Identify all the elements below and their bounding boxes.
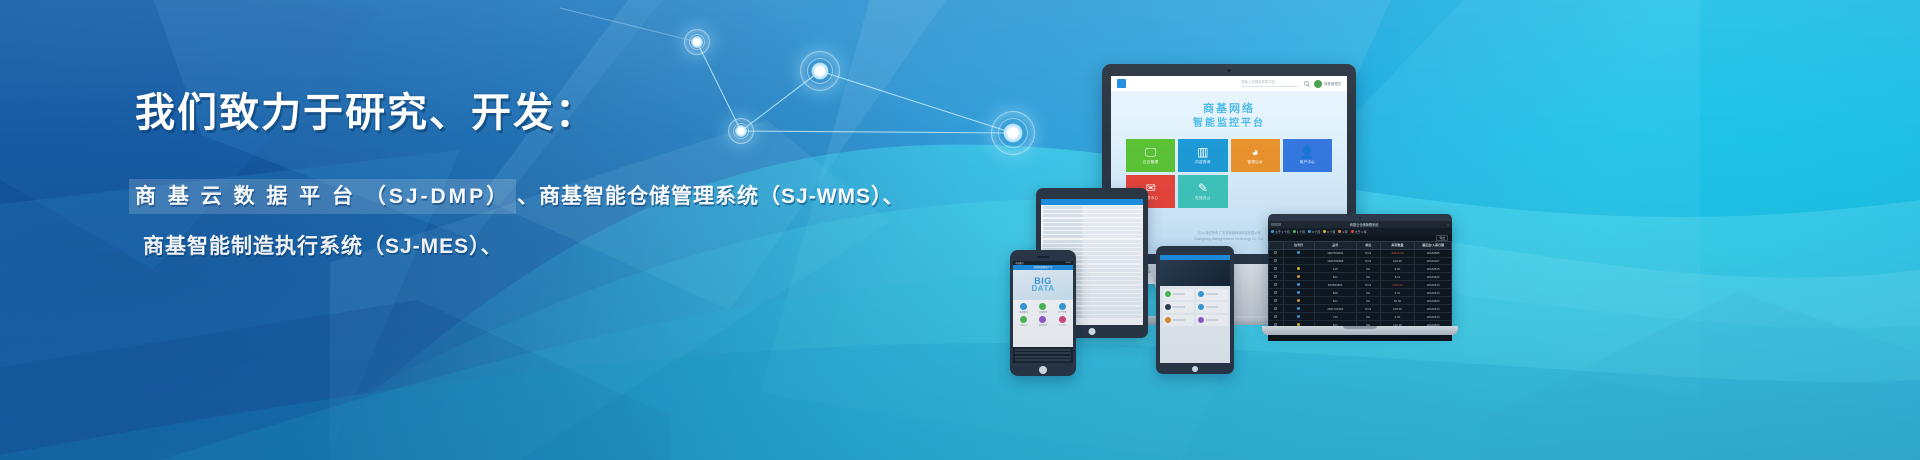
- hero-banner: 我们致力于研究、开发： 商 基 云 数 据 平 台 （SJ-DMP） 、商基智能…: [0, 0, 1920, 460]
- background-vignette: [0, 0, 1920, 460]
